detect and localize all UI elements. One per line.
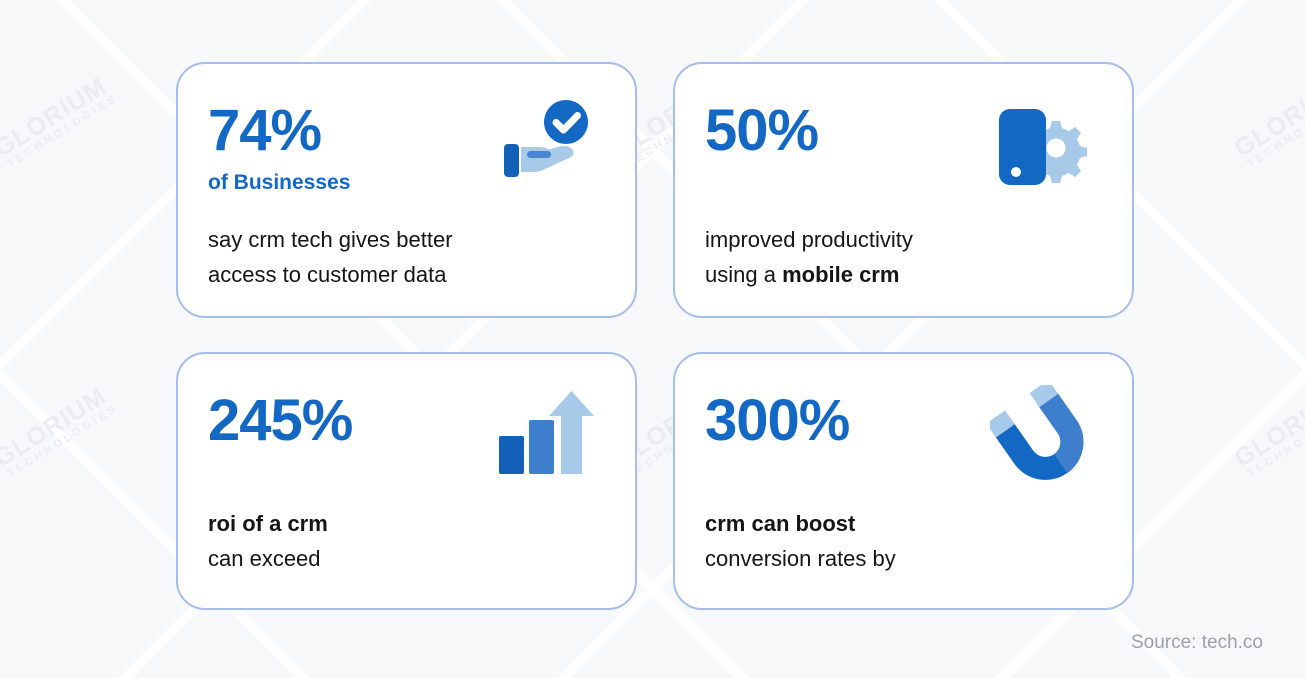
watermark-sub-text: TECHNOLOGIES bbox=[6, 403, 121, 481]
stat-card-businesses-data-access: 74% of Businesses say crm tech gives bet… bbox=[176, 62, 637, 318]
watermark-sub-text: TECHNOLOGIES bbox=[6, 93, 121, 171]
stat-description-line-1: improved productivity bbox=[705, 222, 913, 257]
stat-description: crm can boost conversion rates by bbox=[705, 506, 896, 576]
watermark-sub-text: TECHNOLOGIES bbox=[1246, 403, 1305, 481]
watermark: GLORIUM TECHNOLOGIES bbox=[1230, 71, 1305, 172]
stat-description-line-2: access to customer data bbox=[208, 257, 453, 292]
hand-holding-check-icon bbox=[493, 95, 597, 199]
stat-description-line-1: roi of a crm bbox=[208, 506, 328, 541]
watermark: GLORIUM TECHNOLOGIES bbox=[0, 71, 121, 172]
watermark-main-text: GLORIUM bbox=[1230, 381, 1305, 473]
stat-description-line-1: say crm tech gives better bbox=[208, 222, 453, 257]
stat-description-line-1: crm can boost bbox=[705, 506, 896, 541]
stat-card-grid: 74% of Businesses say crm tech gives bet… bbox=[176, 62, 1134, 610]
magnet-icon bbox=[990, 385, 1094, 489]
stat-description: say crm tech gives better access to cust… bbox=[208, 222, 453, 292]
watermark: GLORIUM TECHNOLOGIES bbox=[1230, 381, 1305, 482]
source-note: Source: tech.co bbox=[1131, 632, 1263, 654]
watermark-main-text: GLORIUM bbox=[0, 381, 115, 473]
stat-card-mobile-crm-productivity: 50% improved productivity using a mobile… bbox=[673, 62, 1134, 318]
stat-card-crm-roi: 245% roi of a crm can exceed bbox=[176, 352, 637, 610]
watermark-sub-text: TECHNOLOGIES bbox=[1246, 93, 1305, 171]
bar-chart-arrow-up-icon bbox=[493, 385, 597, 489]
stat-description-line-2: conversion rates by bbox=[705, 541, 896, 576]
stat-description: roi of a crm can exceed bbox=[208, 506, 328, 576]
stat-card-conversion-rates: 300% crm can boost conversion rates by bbox=[673, 352, 1134, 610]
watermark-main-text: GLORIUM bbox=[0, 71, 115, 163]
stat-description-line-2-highlight: mobile crm bbox=[782, 262, 899, 287]
stat-description-line-2: using a mobile crm bbox=[705, 257, 913, 292]
mobile-phone-gear-icon bbox=[990, 95, 1094, 199]
watermark-main-text: GLORIUM bbox=[1230, 71, 1305, 163]
watermark: GLORIUM TECHNOLOGIES bbox=[0, 381, 121, 482]
stat-description-line-2: can exceed bbox=[208, 541, 328, 576]
stat-description: improved productivity using a mobile crm bbox=[705, 222, 913, 292]
stat-description-line-2-prefix: using a bbox=[705, 262, 782, 287]
